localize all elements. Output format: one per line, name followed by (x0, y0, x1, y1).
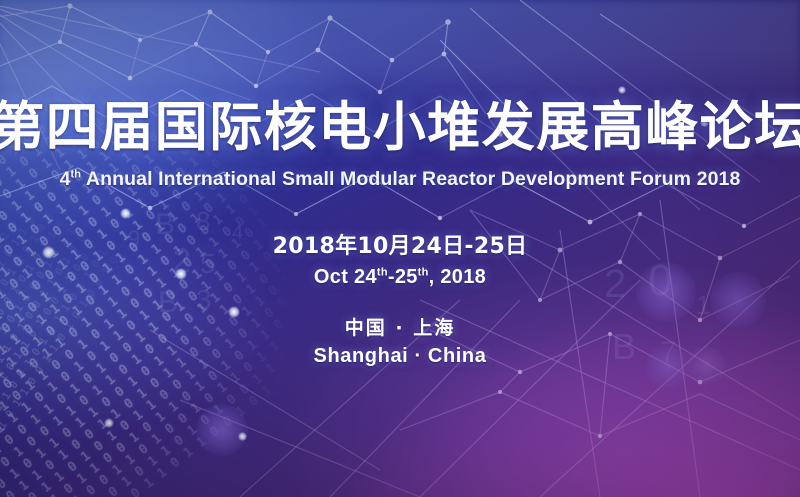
date-en-end: -25 (388, 266, 418, 288)
date-en-year: , 2018 (429, 266, 486, 288)
date-en-start: Oct 24 (314, 266, 377, 288)
date-en-end-suffix: th (418, 266, 429, 278)
poster-title-english: 4th Annual International Small Modular R… (60, 167, 741, 191)
poster-title-chinese: 第四届国际核电小堆发展高峰论坛 (0, 99, 800, 157)
conference-poster-banner: B 8 2 5 B 3 9 4 2 0 B 7 1 0 1 0 1 1 0 1 … (0, 0, 800, 497)
event-location-chinese: 中国 · 上海 (345, 316, 455, 341)
title-en-ordinal-suffix: th (71, 169, 82, 181)
event-location-english: Shanghai · China (314, 343, 487, 369)
event-date-chinese: 2018年10月24日-25日 (273, 233, 528, 261)
title-en-ordinal-number: 4 (60, 168, 71, 190)
title-en-rest: Annual International Small Modular React… (81, 168, 740, 190)
date-en-start-suffix: th (377, 266, 388, 278)
poster-content: 第四届国际核电小堆发展高峰论坛 4th Annual International… (0, 0, 800, 497)
event-date-english: Oct 24th-25th, 2018 (314, 264, 486, 290)
